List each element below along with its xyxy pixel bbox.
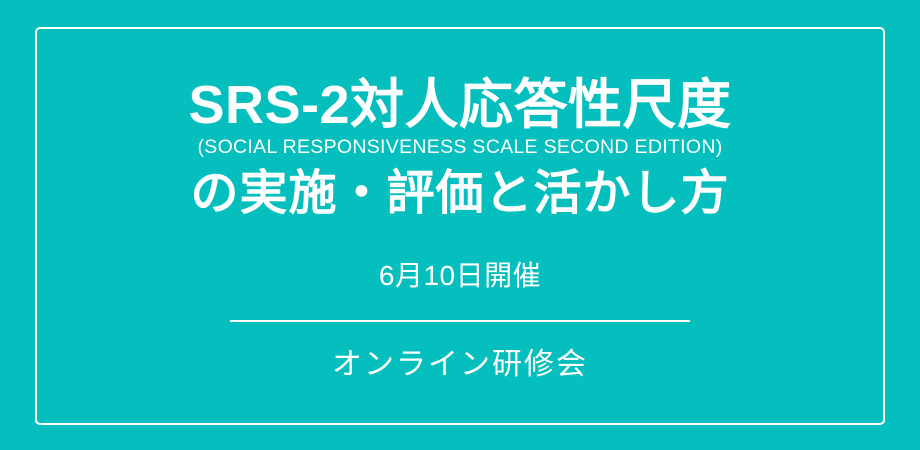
- event-date: 6月10日開催: [379, 262, 541, 290]
- horizontal-divider: [230, 320, 690, 322]
- title-block: SRS-2対人応答性尺度 (SOCIAL RESPONSIVENESS SCAL…: [0, 78, 920, 218]
- title-line-primary: SRS-2対人応答性尺度: [0, 78, 920, 132]
- title-latin-subtitle: (SOCIAL RESPONSIVENESS SCALE SECOND EDIT…: [0, 138, 920, 158]
- event-type: オンライン研修会: [332, 350, 588, 380]
- seminar-banner: SRS-2対人応答性尺度 (SOCIAL RESPONSIVENESS SCAL…: [0, 0, 920, 450]
- banner-content: SRS-2対人応答性尺度 (SOCIAL RESPONSIVENESS SCAL…: [0, 0, 920, 450]
- title-line-secondary: の実施・評価と活かし方: [0, 170, 920, 218]
